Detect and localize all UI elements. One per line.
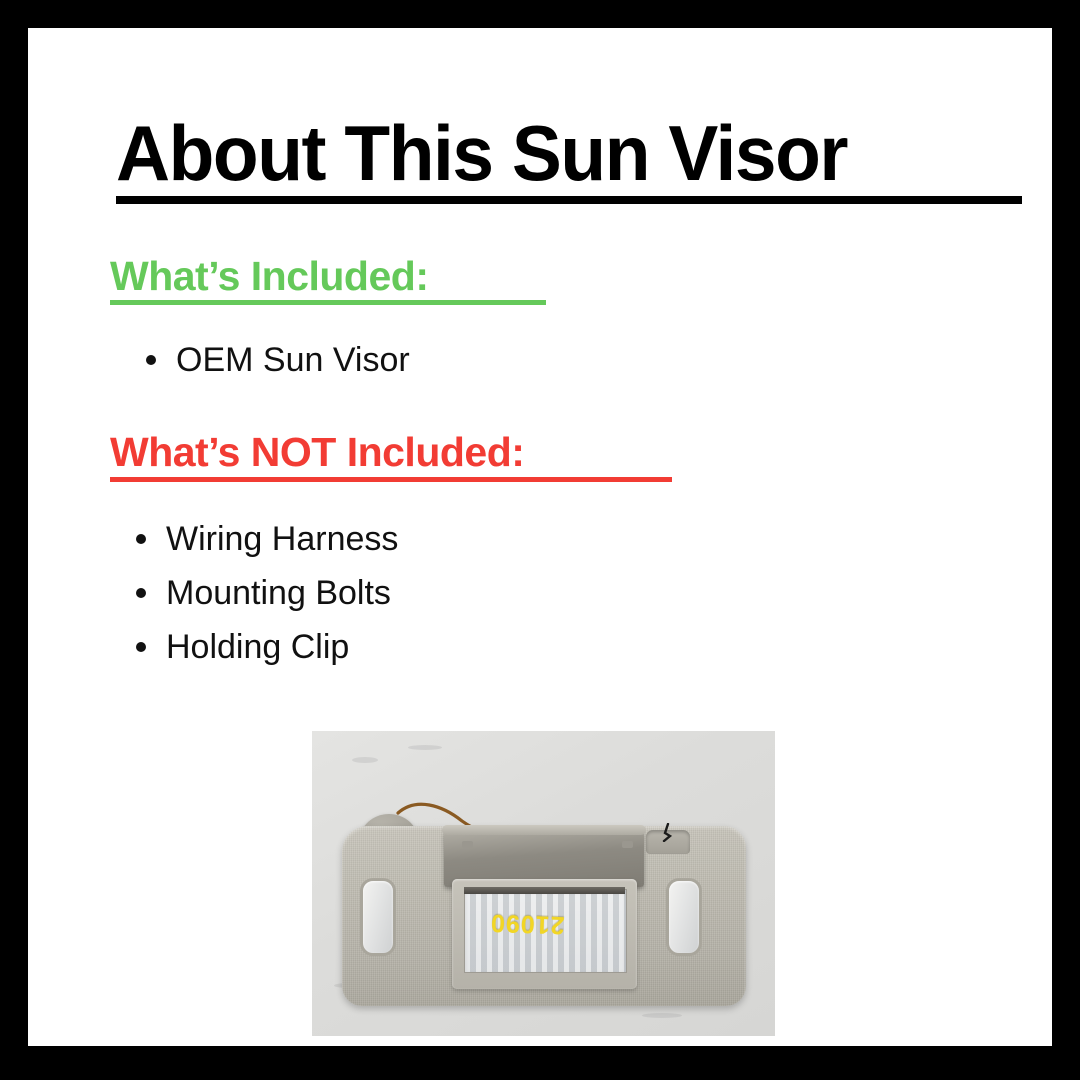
mirror-top-rail bbox=[464, 887, 625, 894]
not-included-list: Wiring Harness Mounting Bolts Holding Cl… bbox=[166, 512, 398, 674]
photo-speck bbox=[352, 757, 378, 763]
mirror-cover-lip bbox=[442, 825, 646, 835]
flap-tab bbox=[462, 841, 473, 848]
part-marking-text: 21090 bbox=[490, 908, 565, 940]
poster-card: About This Sun Visor What’s Included: OE… bbox=[28, 28, 1052, 1046]
page-title: About This Sun Visor bbox=[116, 110, 1022, 196]
visor-light-lens-right bbox=[666, 878, 702, 956]
visor-clip-hook-icon bbox=[661, 823, 675, 842]
page-title-text: About This Sun Visor bbox=[116, 110, 986, 196]
list-item-label: Wiring Harness bbox=[166, 520, 398, 558]
bullet-dot-icon bbox=[146, 355, 156, 365]
page-title-underline bbox=[116, 196, 1022, 204]
not-included-heading-underline bbox=[110, 477, 672, 482]
product-photo: 21090 bbox=[312, 731, 775, 1036]
included-heading-underline bbox=[110, 300, 546, 305]
photo-speck bbox=[642, 1013, 682, 1018]
list-item: Wiring Harness bbox=[166, 512, 398, 566]
included-heading: What’s Included: bbox=[110, 252, 428, 300]
list-item-label: Mounting Bolts bbox=[166, 574, 391, 612]
flap-tab bbox=[622, 841, 633, 848]
bullet-dot-icon bbox=[136, 588, 146, 598]
not-included-heading: What’s NOT Included: bbox=[110, 428, 524, 476]
list-item-label: OEM Sun Visor bbox=[176, 341, 410, 379]
poster-canvas: About This Sun Visor What’s Included: OE… bbox=[0, 0, 1080, 1080]
list-item: OEM Sun Visor bbox=[176, 333, 410, 387]
bullet-dot-icon bbox=[136, 534, 146, 544]
list-item: Mounting Bolts bbox=[166, 566, 398, 620]
included-list: OEM Sun Visor bbox=[176, 333, 410, 387]
visor-light-lens-left bbox=[360, 878, 396, 956]
list-item-label: Holding Clip bbox=[166, 628, 349, 666]
photo-speck bbox=[408, 745, 442, 750]
list-item: Holding Clip bbox=[166, 620, 398, 674]
bullet-dot-icon bbox=[136, 642, 146, 652]
